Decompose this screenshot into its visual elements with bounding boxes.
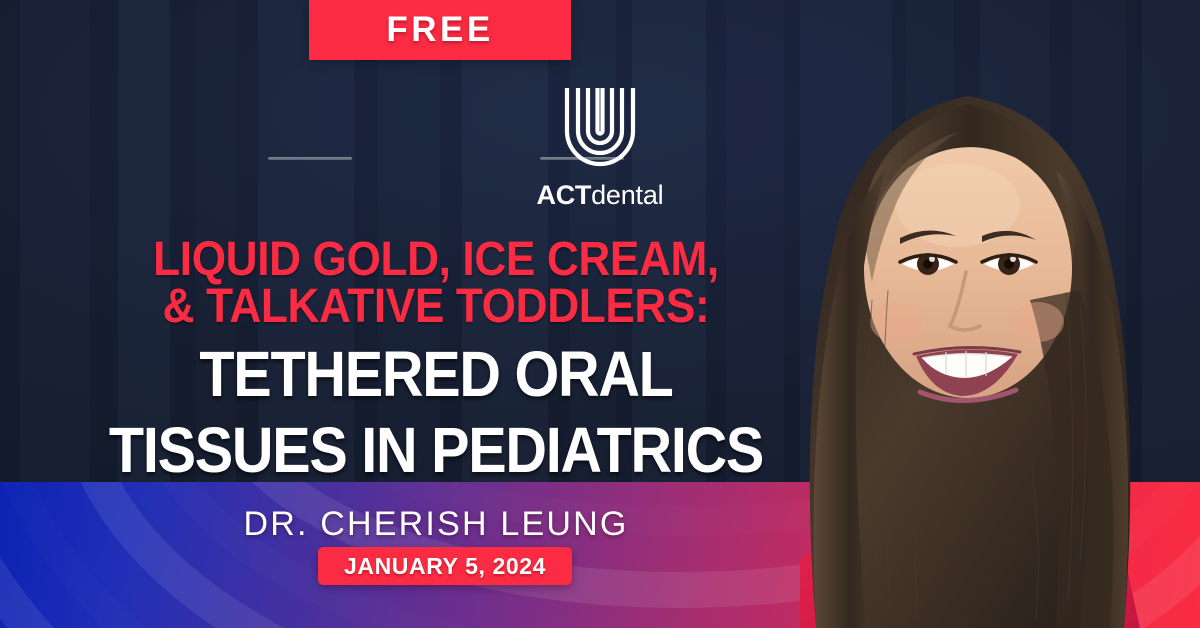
free-badge: FREE — [309, 0, 571, 60]
headline-white-line-2: TISSUES IN PEDIATRICS — [44, 419, 829, 482]
headline-red-line-2: & TALKATIVE TODDLERS: — [35, 283, 837, 330]
brand-wordmark: ACTdental — [537, 180, 664, 211]
date-badge-label: JANUARY 5, 2024 — [344, 553, 546, 580]
date-badge: JANUARY 5, 2024 — [318, 547, 572, 585]
headline-block: LIQUID GOLD, ICE CREAM, & TALKATIVE TODD… — [0, 236, 872, 482]
portrait-illustration-icon — [780, 0, 1200, 628]
brand-name-light: dental — [591, 180, 663, 210]
free-badge-label: FREE — [386, 10, 493, 50]
speaker-name: DR. CHERISH LEUNG — [0, 505, 872, 544]
speaker-portrait — [780, 0, 1200, 628]
promo-graphic: FREE ACTdental LIQUID GOLD, ICE CREAM, &… — [0, 0, 1200, 628]
brand-name-bold: ACT — [537, 180, 592, 210]
headline-white-line-1: TETHERED ORAL — [44, 343, 829, 406]
headline-red-line-1: LIQUID GOLD, ICE CREAM, — [35, 236, 837, 283]
act-dental-u-logo-icon — [552, 84, 648, 170]
